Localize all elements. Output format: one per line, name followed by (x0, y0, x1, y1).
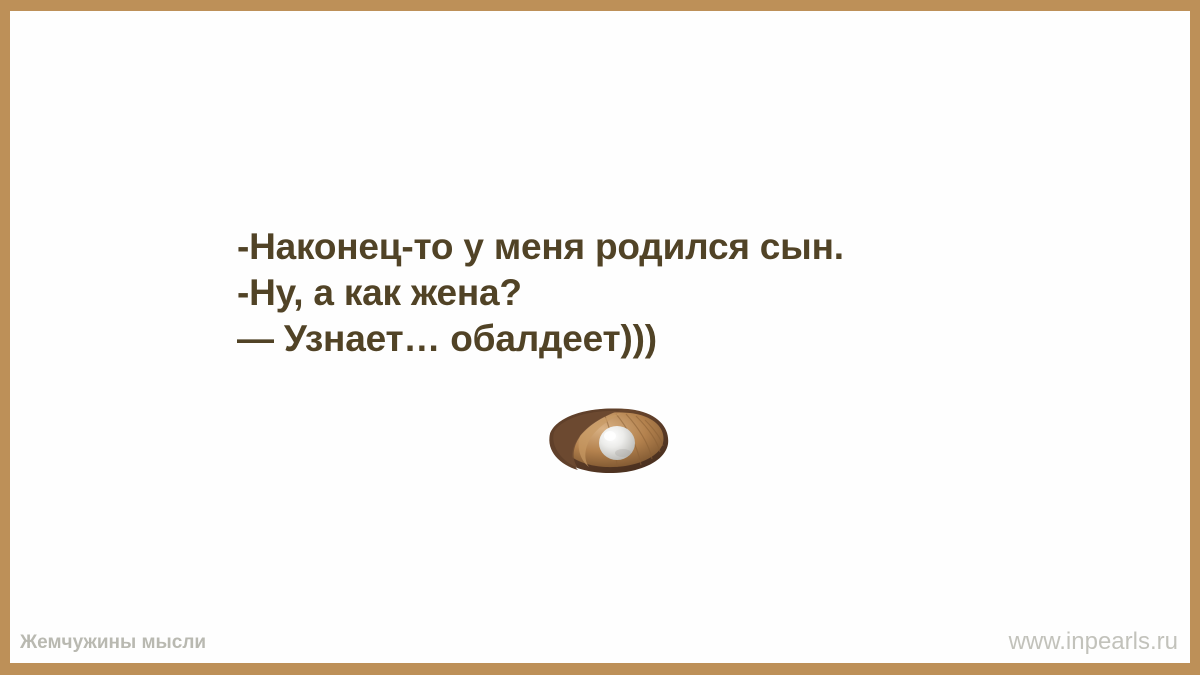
quote-line-2: -Ну, а как жена? (237, 270, 1137, 316)
oyster-shell-with-pearl-icon (546, 404, 672, 474)
quote-line-1: -Наконец-то у меня родился сын. (237, 224, 1137, 270)
site-url-label[interactable]: www.inpearls.ru (1009, 628, 1178, 656)
site-name-label: Жемчужины мысли (20, 631, 206, 655)
quote-block: -Наконец-то у меня родился сын. -Ну, а к… (237, 224, 1137, 362)
content-card: -Наконец-то у меня родился сын. -Ну, а к… (10, 11, 1190, 663)
page-root: { "page": { "background_color": "#fefefe… (0, 0, 1200, 675)
quote-line-3: — Узнает… обалдеет))) (237, 316, 1137, 362)
